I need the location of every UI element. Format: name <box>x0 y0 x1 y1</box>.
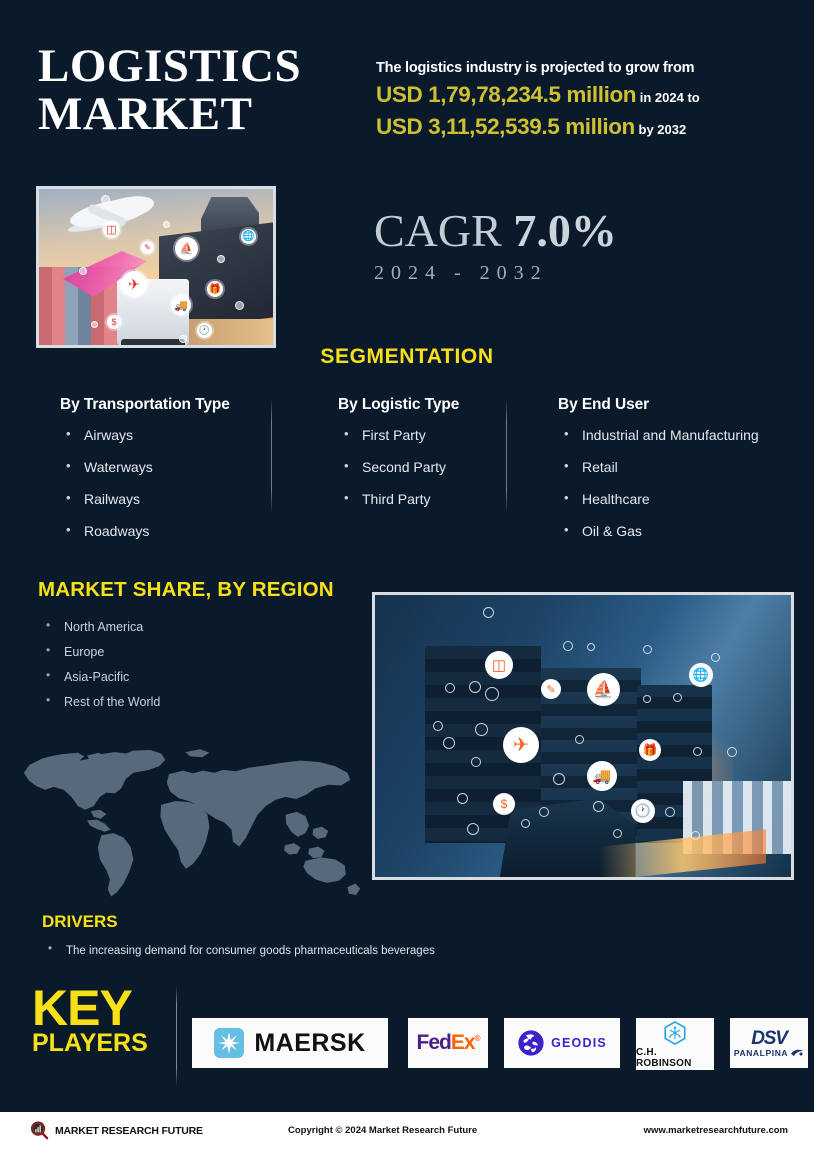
market-size-statement: The logistics industry is projected to g… <box>376 60 796 140</box>
network-node <box>445 683 455 693</box>
network-node <box>521 819 530 828</box>
list-item: Rest of the World <box>40 695 160 709</box>
globe-icon <box>517 1029 545 1057</box>
drivers-item: The increasing demand for consumer goods… <box>46 945 435 957</box>
clipboard-icon: ◫ <box>485 651 513 679</box>
key-players-logo-row: MAERSK FedEx® GEODIS C.H. ROBINSON <box>192 1018 798 1070</box>
key-players-heading: KEY PLAYERS <box>32 985 162 1056</box>
stat-2032-line: USD 3,11,52,539.5 million by 2032 <box>376 114 796 140</box>
footer-brand: MARKET RESEARCH FUTURE <box>30 1121 203 1140</box>
network-node <box>613 829 622 838</box>
footer-inner: MARKET RESEARCH FUTURE Copyright © 2024 … <box>0 1112 814 1150</box>
cagr-block: CAGR 7.0% 2024 - 2032 <box>374 208 617 285</box>
segmentation-column-transportation-type: By Transportation Type Airways Waterways… <box>60 396 270 555</box>
stat-2032-value: USD 3,11,52,539.5 million <box>376 114 635 139</box>
stat-intro-line: The logistics industry is projected to g… <box>376 60 796 76</box>
network-node <box>539 807 549 817</box>
network-node <box>79 267 87 275</box>
clock-icon: 🕐 <box>631 799 655 823</box>
airplane-icon: ✈ <box>121 271 147 297</box>
clipboard-icon: ◫ <box>103 221 120 238</box>
network-node <box>643 695 651 703</box>
logo-geodis[interactable]: GEODIS <box>504 1018 620 1068</box>
network-node <box>691 831 700 840</box>
gift-icon: 🎁 <box>639 739 661 761</box>
segment-list: First Party Second Party Third Party <box>338 427 528 507</box>
network-node <box>643 645 652 654</box>
segmentation-column-end-user: By End User Industrial and Manufacturing… <box>558 396 814 555</box>
logo-fedex-label: FedEx® <box>417 1031 480 1055</box>
logo-dsv-stack: DSV PANALPINA <box>734 1029 804 1058</box>
logo-panalpina-label: PANALPINA <box>734 1048 788 1058</box>
stat-2032-suffix: by 2032 <box>639 122 687 137</box>
list-item: Third Party <box>338 491 528 507</box>
edit-icon: ✎ <box>541 679 561 699</box>
footer: MARKET RESEARCH FUTURE Copyright © 2024 … <box>0 1112 814 1150</box>
segment-heading: By Logistic Type <box>338 396 528 414</box>
network-node <box>575 735 584 744</box>
list-item: Roadways <box>60 523 270 539</box>
seven-point-star-icon <box>214 1028 244 1058</box>
list-item: Airways <box>60 427 270 443</box>
footer-copyright: Copyright © 2024 Market Research Future <box>288 1125 477 1136</box>
segmentation-heading: SEGMENTATION <box>0 345 814 369</box>
hero-logistics-image: ◫ ✎ ⛵ 🌐 ✈ 🎁 🚚 $ 🕐 <box>36 186 276 348</box>
network-node <box>457 793 468 804</box>
magnifier-chart-icon <box>30 1121 49 1140</box>
logo-dsv-panalpina[interactable]: DSV PANALPINA <box>730 1018 808 1068</box>
list-item: Railways <box>60 491 270 507</box>
list-item: First Party <box>338 427 528 443</box>
dollar-icon: $ <box>493 793 515 815</box>
logo-fedex-part2: Ex <box>451 1031 475 1054</box>
network-node <box>443 737 455 749</box>
network-node <box>217 255 225 263</box>
cagr-value: 7.0% <box>513 205 617 256</box>
network-node <box>235 301 244 310</box>
logo-dsv-subline: PANALPINA <box>734 1048 804 1058</box>
footer-brand-label: MARKET RESEARCH FUTURE <box>55 1125 203 1137</box>
logo-chr-stack: C.H. ROBINSON <box>636 1020 714 1069</box>
stat-2024-line: USD 1,79,78,234.5 million in 2024 to <box>376 82 796 108</box>
hexagon-arrows-icon <box>662 1020 688 1046</box>
logo-geodis-label: GEODIS <box>551 1036 607 1050</box>
list-item: Industrial and Manufacturing <box>558 427 814 443</box>
infographic-page: LOGISTICS MARKET The logistics industry … <box>0 0 814 1150</box>
logo-fedex-part1: Fed <box>417 1031 451 1054</box>
list-item: Retail <box>558 459 814 475</box>
segment-heading: By End User <box>558 396 814 414</box>
key-players-line2: PLAYERS <box>32 1031 162 1056</box>
globe-icon: 🌐 <box>689 663 713 687</box>
logo-maersk[interactable]: MAERSK <box>192 1018 388 1068</box>
logo-dsv-label: DSV <box>751 1029 786 1048</box>
dollar-icon: $ <box>107 315 121 329</box>
network-node <box>665 807 675 817</box>
truck-icon: 🚚 <box>587 761 617 791</box>
network-node <box>727 747 737 757</box>
cagr-period: 2024 - 2032 <box>374 262 617 285</box>
logo-chr-label: C.H. ROBINSON <box>636 1047 714 1069</box>
list-item: Second Party <box>338 459 528 475</box>
logo-maersk-label: MAERSK <box>254 1029 365 1058</box>
cagr-label: CAGR <box>374 205 502 256</box>
segment-list: Industrial and Manufacturing Retail Heal… <box>558 427 814 539</box>
logo-ch-robinson[interactable]: C.H. ROBINSON <box>636 1018 714 1070</box>
network-node <box>553 773 565 785</box>
segmentation-divider-1 <box>271 398 272 513</box>
star-glyph <box>217 1031 241 1055</box>
network-node <box>433 721 443 731</box>
network-node <box>179 335 187 343</box>
list-item: Oil & Gas <box>558 523 814 539</box>
segment-list: Airways Waterways Railways Roadways <box>60 427 270 539</box>
network-node <box>483 607 494 618</box>
network-node <box>469 681 481 693</box>
container-yard-image: ◫ ✎ ⛵ 🌐 ✈ 🎁 🚚 $ 🕐 <box>372 592 794 880</box>
network-node <box>163 221 170 228</box>
stat-2024-value: USD 1,79,78,234.5 million <box>376 82 636 107</box>
network-node <box>587 643 595 651</box>
stat-2024-suffix: in 2024 to <box>640 90 700 105</box>
edit-icon: ✎ <box>141 241 154 254</box>
cagr-headline: CAGR 7.0% <box>374 208 617 254</box>
gift-icon: 🎁 <box>207 281 223 297</box>
network-node <box>101 195 110 204</box>
ship-icon: ⛵ <box>175 237 198 260</box>
network-node <box>693 747 702 756</box>
list-item: North America <box>40 620 160 634</box>
list-item: Asia-Pacific <box>40 670 160 684</box>
network-node <box>91 321 98 328</box>
globe-icon: 🌐 <box>241 229 256 244</box>
network-node <box>711 653 720 662</box>
page-title: LOGISTICS MARKET <box>38 42 368 139</box>
list-item: Europe <box>40 645 160 659</box>
registered-mark-icon: ® <box>475 1034 480 1043</box>
network-node <box>593 801 604 812</box>
key-players-line1: KEY <box>32 985 162 1031</box>
swoosh-icon <box>790 1048 804 1057</box>
network-node <box>485 687 499 701</box>
network-node <box>475 723 488 736</box>
footer-url[interactable]: www.marketresearchfuture.com <box>644 1125 788 1136</box>
segment-heading: By Transportation Type <box>60 396 270 414</box>
logo-fedex[interactable]: FedEx® <box>408 1018 488 1068</box>
drivers-heading: DRIVERS <box>42 912 118 932</box>
yard-truck-fleet-left <box>375 776 500 861</box>
network-node <box>471 757 481 767</box>
list-item: Waterways <box>60 459 270 475</box>
market-share-heading: MARKET SHARE, BY REGION <box>38 578 334 602</box>
truck-icon: 🚚 <box>171 295 191 315</box>
network-node <box>673 693 682 702</box>
list-item: Healthcare <box>558 491 814 507</box>
world-map <box>8 740 364 900</box>
network-node <box>467 823 479 835</box>
market-share-region-list: North America Europe Asia-Pacific Rest o… <box>40 620 160 720</box>
network-node <box>563 641 573 651</box>
ship-icon: ⛵ <box>587 673 620 706</box>
clock-icon: 🕐 <box>197 323 212 338</box>
airplane-icon: ✈ <box>503 727 539 763</box>
key-players-divider <box>176 986 177 1086</box>
segmentation-column-logistic-type: By Logistic Type First Party Second Part… <box>338 396 528 523</box>
